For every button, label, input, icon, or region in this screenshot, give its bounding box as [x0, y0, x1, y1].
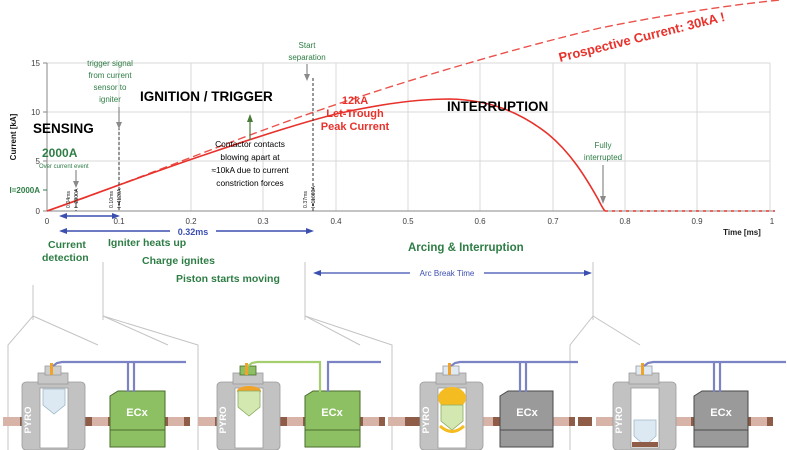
x-tick-0.6: 0.6 [474, 217, 486, 226]
y-tick-15: 15 [31, 59, 40, 68]
phase-igniter-heats-up: Igniter heats up [108, 237, 186, 249]
ecx-label-2: ECx [321, 407, 343, 419]
start-separation-line-1: Start [299, 41, 317, 50]
contactor-line-2: blowing apart at [220, 152, 280, 162]
contactor-line-1: Contactor contacts [215, 139, 285, 149]
phase-arcing-interruption: Arcing & Interruption [408, 242, 524, 254]
x-tick-0.1: 0.1 [113, 217, 125, 226]
ecx-label-3: ECx [516, 407, 538, 419]
marker-2-current: I=4120A [117, 188, 123, 208]
x-tick-0.4: 0.4 [330, 217, 342, 226]
annotation-overcurrent-value: 2000A [42, 146, 78, 160]
igniter-pin-3 [448, 363, 451, 375]
phase-current-detection-line-1: Current [48, 239, 86, 251]
trigger-signal-line-2: from current [88, 71, 132, 80]
igniter-pin-1 [50, 363, 53, 375]
y-axis-title: Current [kA] [9, 113, 18, 160]
marker-3-time: 0.37ms [303, 191, 309, 208]
marker-2-time: 0.10ms [109, 191, 115, 208]
diagram-root: 15 10 5 0 I=2000A Current [kA] 0 0.1 0.2… [0, 0, 787, 450]
y-tick-0: 0 [36, 207, 41, 216]
contactor-line-4: constriction forces [216, 178, 284, 188]
let-through-line-2: Let-Trough [326, 108, 384, 120]
x-axis-title: Time [ms] [723, 228, 761, 237]
igniter-pin-4 [641, 363, 644, 375]
ecx-body-1 [110, 391, 165, 447]
trigger-signal-line-3: sensor to [94, 83, 127, 92]
trigger-signal-line-4: igniter [99, 95, 121, 104]
y-tick-10: 10 [31, 108, 40, 117]
start-separation-line-2: separation [288, 53, 325, 62]
ecx-label-4: ECx [710, 407, 732, 419]
ecx-body-2 [305, 391, 360, 447]
x-tick-0.8: 0.8 [619, 217, 631, 226]
x-tick-0.5: 0.5 [402, 217, 414, 226]
fully-interrupted-line-2: interrupted [584, 153, 622, 162]
let-through-line-3: Peak Current [321, 121, 390, 133]
contactor-line-3: ≈10kA due to current [211, 165, 289, 175]
pyro-label-2: PYRO [218, 407, 229, 434]
ecx-label-1: ECx [126, 407, 148, 419]
annotation-sensing: SENSING [33, 121, 94, 136]
span-arc-break-label: Arc Break Time [420, 269, 475, 278]
x-tick-0: 0 [45, 217, 50, 226]
phase-current-detection-line-2: detection [42, 252, 89, 264]
ecx-body-4 [694, 391, 748, 447]
pyro-label-3: PYRO [421, 407, 432, 434]
trigger-signal-line-1: trigger signal [87, 59, 133, 68]
severed-contact-4 [632, 442, 658, 447]
annotation-overcurrent-sub: Over current event [39, 164, 89, 170]
igniter-pin-2 [245, 363, 248, 375]
annotation-ignition-trigger: IGNITION / TRIGGER [140, 89, 273, 104]
x-tick-1: 1 [770, 217, 775, 226]
ecx-body-3 [500, 391, 553, 447]
fully-interrupted-line-1: Fully [595, 141, 612, 150]
marker-1-current: I=2000A [74, 188, 80, 208]
pyrofuse-timing-diagram: 15 10 5 0 I=2000A Current [kA] 0 0.1 0.2… [0, 0, 787, 450]
x-tick-0.9: 0.9 [691, 217, 703, 226]
pyro-label-1: PYRO [23, 407, 34, 434]
span-total-label: 0.32ms [178, 227, 209, 237]
let-through-line-1: 12kA [342, 95, 368, 107]
marker-1-time: 0.04ms [66, 191, 72, 208]
marker-3-current: I=11600A [311, 185, 317, 208]
x-tick-0.3: 0.3 [257, 217, 269, 226]
y-marker-2ka: I=2000A [10, 186, 41, 195]
phase-piston-starts-moving: Piston starts moving [176, 273, 280, 285]
phase-charge-ignites: Charge ignites [142, 255, 215, 267]
annotation-interruption: INTERRUPTION [447, 99, 548, 114]
x-tick-0.7: 0.7 [547, 217, 559, 226]
pyro-label-4: PYRO [614, 407, 625, 434]
